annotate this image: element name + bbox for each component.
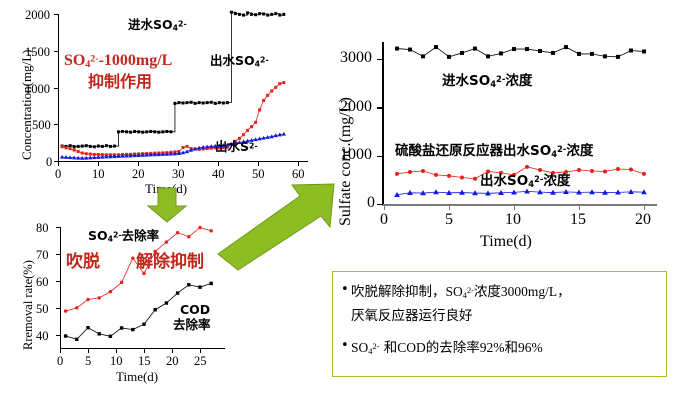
bullet-marker: •	[341, 336, 351, 355]
chart-influent-effluent-sulfate: Concentration(mg/L) 2000 1500 1000 500 0…	[0, 0, 320, 195]
up-right-arrow-icon	[212, 182, 342, 272]
annotation-influent-sulfate-conc: 进水SO42-浓度	[442, 74, 532, 89]
bullet-1-line-2: 厌氧反应器运行良好	[351, 308, 473, 324]
annotation-cod-removal: 去除率	[173, 318, 211, 331]
bullet-marker: •	[341, 280, 351, 299]
bullet-text: SO42- 和COD的去除率92%和96%	[351, 336, 543, 362]
slide-root: Concentration(mg/L) 2000 1500 1000 500 0…	[0, 0, 674, 406]
annotation-inhibition-title: SO42--1000mg/L	[64, 53, 172, 71]
bullet-1-line-1: 吹脱解除抑制，SO42-浓度3000mg/L，	[351, 284, 571, 300]
list-item: • SO42- 和COD的去除率92%和96%	[341, 336, 661, 362]
annotation-influent-sulfate: 进水SO42-	[128, 18, 187, 33]
annotation-air-stripping: 吹脱	[66, 254, 100, 272]
bullet-2-line-1: SO42- 和COD的去除率92%和96%	[351, 340, 543, 356]
annotation-sulfate-removal: SO42-去除率	[88, 229, 159, 244]
annotation-cod-label: COD	[180, 303, 210, 316]
annotation-srb-reactor-effluent-conc: 硫酸盐还原反应器出水SO42-浓度	[395, 144, 593, 159]
annotation-effluent-sulfide: 出水S2-	[215, 140, 258, 153]
annotation-inhibition-effect: 抑制作用	[88, 74, 152, 91]
annotation-effluent-sulfate: 出水SO42-	[210, 54, 269, 69]
annotation-inhibition-relief: 解除抑制	[136, 254, 204, 272]
plot-data-right	[322, 18, 674, 258]
list-item: • 吹脱解除抑制，SO42-浓度3000mg/L， 厌氧反应器运行良好	[341, 280, 661, 327]
bullet-text: 吹脱解除抑制，SO42-浓度3000mg/L， 厌氧反应器运行良好	[351, 280, 571, 327]
summary-box: • 吹脱解除抑制，SO42-浓度3000mg/L， 厌氧反应器运行良好 • SO…	[332, 271, 667, 377]
annotation-effluent-sulfate-conc: 出水SO42-浓度	[480, 174, 570, 189]
chart-sulfate-conc-stable: Sulfate conc.(mg/L) 3000 2000 1000 0 0 5…	[322, 18, 674, 258]
down-arrow-icon	[146, 186, 192, 226]
